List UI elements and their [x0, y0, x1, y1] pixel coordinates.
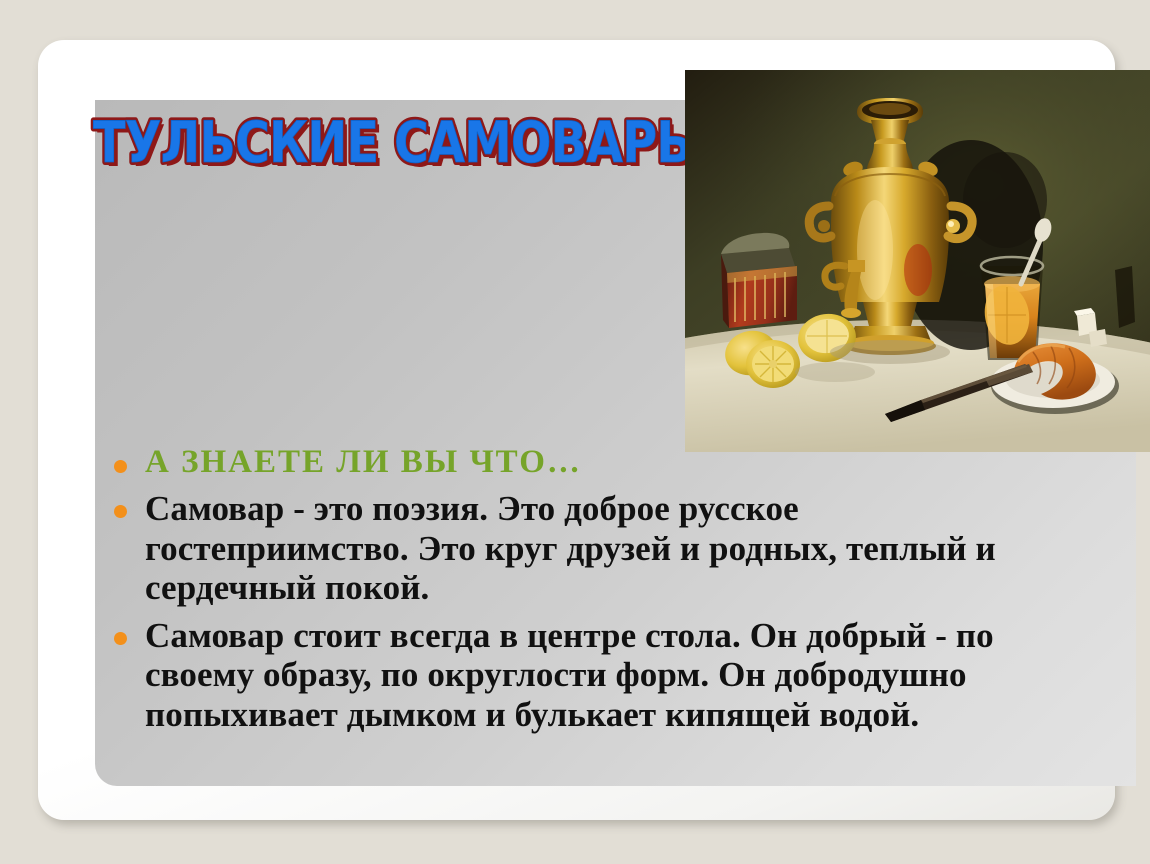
samovar-cloth-shadow	[830, 340, 950, 364]
samovar-still-life-image	[685, 70, 1150, 452]
list-item: Самовар стоит всегда в центре стола. Он …	[95, 616, 1095, 735]
bullet-dot-icon	[114, 460, 127, 473]
bullet-list: А ЗНАЕТЕ ЛИ ВЫ ЧТО… Самовар - это поэзия…	[95, 444, 1095, 737]
painting-svg	[685, 70, 1150, 452]
bullet-dot-icon	[114, 632, 127, 645]
list-item-label: Самовар - это поэзия. Это доброе русское…	[145, 489, 1025, 608]
samovar-shadow-2	[963, 152, 1047, 248]
cloth-shadow-2	[795, 362, 875, 382]
tin-box	[721, 233, 797, 328]
bullet-dot-icon	[114, 505, 127, 518]
slide-card: ТУЛЬСКИЕ САМОВАРЫ ТУЛЬСКИЕ САМОВАРЫ ТУЛЬ…	[38, 40, 1115, 820]
list-item: Самовар - это поэзия. Это доброе русское…	[95, 489, 1095, 608]
list-item-label: Самовар стоит всегда в центре стола. Он …	[145, 616, 1045, 735]
